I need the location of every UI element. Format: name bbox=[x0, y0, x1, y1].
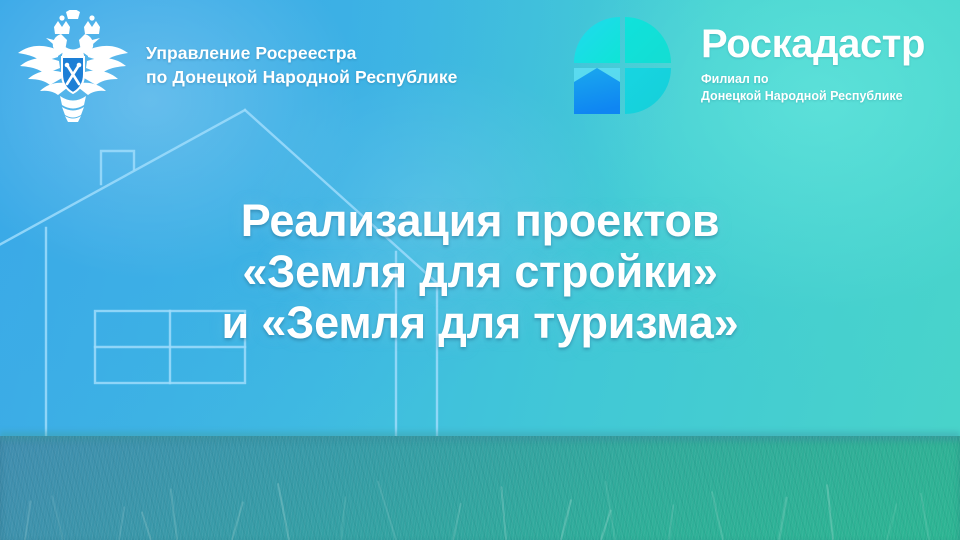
rosreestr-title-text: Управление Росреестра по Донецкой Народн… bbox=[146, 42, 458, 89]
roskadastr-title: Роскадастр bbox=[701, 24, 925, 64]
grass-blade bbox=[231, 501, 244, 540]
grass-blade bbox=[778, 496, 788, 540]
grass-blade bbox=[560, 499, 572, 540]
grass-blade bbox=[170, 488, 178, 540]
headline-line-3: и «Земля для туризма» bbox=[0, 298, 960, 349]
grass-blade bbox=[377, 480, 397, 540]
double-headed-eagle-icon bbox=[14, 10, 132, 122]
grass-blade bbox=[711, 491, 724, 540]
grass-blade bbox=[340, 496, 347, 540]
roskadastr-quadrant-bottom-right bbox=[625, 68, 671, 114]
grass-blade bbox=[500, 486, 507, 540]
headline-line-2: «Земля для стройки» bbox=[0, 247, 960, 298]
grass-blade bbox=[600, 509, 612, 540]
grass-blade bbox=[886, 503, 898, 540]
grass-blade bbox=[920, 493, 930, 540]
rosreestr-branding: Управление Росреестра по Донецкой Народн… bbox=[14, 10, 458, 122]
roskadastr-logo-icon bbox=[565, 12, 683, 120]
grass-blade bbox=[141, 511, 152, 540]
grass-blade bbox=[277, 483, 290, 540]
grass-blade bbox=[452, 503, 462, 540]
grass-blade bbox=[826, 484, 834, 540]
grass-blade bbox=[118, 506, 125, 540]
grass-blade bbox=[24, 500, 32, 540]
banner-canvas: Управление Росреестра по Донецкой Народн… bbox=[0, 0, 960, 540]
grass-field-band bbox=[0, 436, 960, 540]
grass-blade bbox=[605, 481, 616, 540]
grass-blade bbox=[51, 495, 64, 540]
grass-blade bbox=[668, 504, 674, 540]
roskadastr-text-group: Роскадастр Филиал по Донецкой Народной Р… bbox=[701, 12, 925, 104]
main-headline: Реализация проектов «Земля для стройки» … bbox=[0, 196, 960, 349]
roskadastr-quadrant-top-right bbox=[625, 17, 671, 63]
roskadastr-quadrant-top-left bbox=[574, 17, 620, 63]
roskadastr-branding: Роскадастр Филиал по Донецкой Народной Р… bbox=[565, 12, 925, 120]
roskadastr-subtitle: Филиал по Донецкой Народной Республике bbox=[701, 71, 925, 104]
headline-line-1: Реализация проектов bbox=[0, 196, 960, 247]
